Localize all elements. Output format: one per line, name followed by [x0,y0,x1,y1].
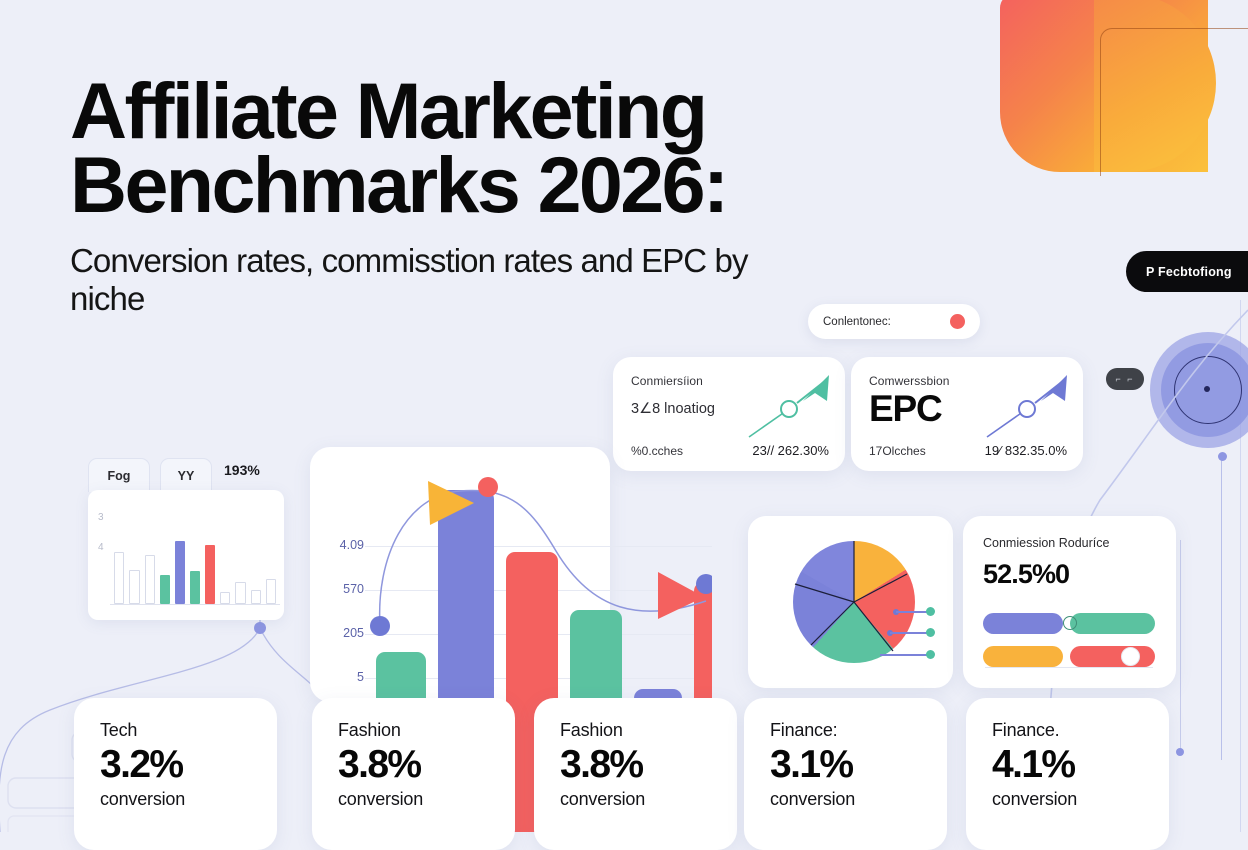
metric-card-footer-right: 19⁄ 832.35.0% [985,443,1067,458]
commission-card[interactable]: Conmiession Roduríce 52.5%0 [963,516,1176,688]
stat-card-percent: 4.1% [992,743,1169,788]
commission-bar [1070,646,1155,667]
legend-label-pill[interactable]: Conlentonec: [808,304,980,339]
pie-segment-dividers [793,541,915,663]
dark-pill-badge[interactable]: P Fecbtofiong [1126,251,1248,292]
stat-card-tech[interactable]: Tech 3.2% conversion [74,698,277,850]
pie-leader-end-dot [926,607,935,616]
page-title: Affiliate Marketing Benchmarks 2026: [70,74,1000,223]
stat-card-percent: 3.8% [338,743,515,788]
stat-card-fashion-2[interactable]: Fashion 3.8% conversion [534,698,737,850]
commission-slider-knob-2[interactable] [1121,647,1140,666]
commission-bar [983,646,1063,667]
commission-bar [983,613,1063,634]
y-tick-label: 570 [324,582,364,596]
mini-chart-bars [114,522,276,604]
commission-card-divider [985,667,1153,668]
commission-card-caption: Conmiession Roduríce [983,536,1156,550]
stat-card-niche: Fashion [338,720,515,741]
commission-slider-knob-1[interactable] [1063,616,1077,630]
pie-leader-end-dot [926,650,935,659]
stat-card-percent: 3.2% [100,743,277,788]
stat-card-percent: 3.8% [560,743,737,788]
stat-card-niche: Fashion [560,720,737,741]
trend-up-arrow-icon [741,371,837,443]
y-tick-label: 5 [324,670,364,684]
mini-chart-card[interactable]: 3 4 [88,490,284,620]
commission-card-value: 52.5%0 [983,559,1156,590]
title-line-2: Benchmarks 2026: [70,148,1000,222]
trend-up-arrow-icon [979,371,1075,443]
legend-status-dot [950,314,965,329]
stat-card-label: conversion [992,789,1169,810]
stat-card-niche: Finance. [992,720,1169,741]
infographic-canvas: P Fecbtofiong ⌐ ⌐ Affiliate Marketing Be… [0,0,1248,832]
pie-leader-line [890,632,928,634]
stat-card-percent: 3.1% [770,743,947,788]
stat-card-label: conversion [560,789,737,810]
stat-card-finance-1[interactable]: Finance: 3.1% conversion [744,698,947,850]
stat-card-label: conversion [100,789,277,810]
page-title-block: Affiliate Marketing Benchmarks 2026: Con… [70,74,1000,318]
metric-card-footer-left: 17Olcches [869,444,926,458]
decor-node-dot-b [1176,748,1184,756]
mini-tab-2[interactable]: YY [160,458,212,492]
blob-outline-accent [1100,28,1248,176]
dark-pill-label: P Fecbtofiong [1146,265,1232,279]
commission-bar [1070,613,1155,634]
stat-card-niche: Tech [100,720,277,741]
y-tick-label: 4.09 [324,538,364,552]
metric-card-epc[interactable]: Comwerssbion EPC 17Olcches 19⁄ 832.35.0% [851,357,1083,471]
mini-pill-badge[interactable]: ⌐ ⌐ [1106,368,1144,390]
legend-label-text: Conlentonec: [823,316,950,328]
pie-leader-end-dot [926,628,935,637]
mini-widget-percent: 193% [224,462,260,478]
mini-tab-1[interactable]: Fog [88,458,150,492]
y-tick-label: 205 [324,626,364,640]
metric-card-footer-right: 23// 262.30% [752,443,829,458]
mini-y-label-2: 4 [98,542,104,553]
stat-card-fashion-1[interactable]: Fashion 3.8% conversion [312,698,515,850]
stat-card-label: conversion [338,789,515,810]
mini-y-label-1: 3 [98,512,104,523]
stat-card-finance-2[interactable]: Finance. 4.1% conversion [966,698,1169,850]
pie-chart-card[interactable] [748,516,953,688]
pie-leader-line [896,611,928,613]
page-subtitle: Conversion rates, commisstion rates and … [70,242,830,319]
stat-card-niche: Finance: [770,720,947,741]
stat-card-label: conversion [770,789,947,810]
pie-leader-line [880,654,928,656]
